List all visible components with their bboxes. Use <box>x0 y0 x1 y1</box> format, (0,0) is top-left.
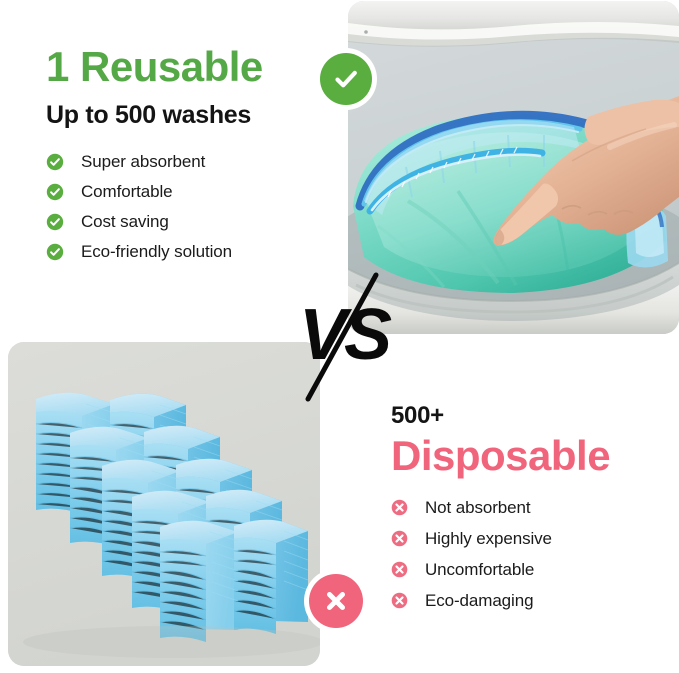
check-circle-icon <box>46 153 64 171</box>
list-item: Highly expensive <box>391 523 676 554</box>
feature-label: Cost saving <box>81 212 169 232</box>
panel-reusable-text: 1 Reusable Up to 500 washes Super absorb… <box>46 46 346 267</box>
x-circle-icon <box>391 561 408 578</box>
subheading-reusable-washes: Up to 500 washes <box>46 101 346 130</box>
drawback-label: Uncomfortable <box>425 560 534 580</box>
list-item: Uncomfortable <box>391 554 676 585</box>
feature-label: Eco-friendly solution <box>81 242 232 262</box>
drawback-label: Not absorbent <box>425 498 531 518</box>
comparison-infographic: VS 1 Reusable Up to 500 washes Super abs… <box>0 0 679 673</box>
list-item: Super absorbent <box>46 147 346 177</box>
check-circle-icon <box>320 53 372 105</box>
list-item: Comfortable <box>46 177 346 207</box>
check-circle-icon <box>46 183 64 201</box>
drawback-label: Highly expensive <box>425 529 552 549</box>
list-item: Not absorbent <box>391 492 676 523</box>
x-circle-icon <box>391 592 408 609</box>
feature-label: Super absorbent <box>81 152 205 172</box>
drawback-label: Eco-damaging <box>425 591 533 611</box>
list-item: Eco-damaging <box>391 585 676 616</box>
photo-disposable-pad-stacks <box>8 342 320 666</box>
heading-reusable: 1 Reusable <box>46 46 346 88</box>
check-circle-icon <box>46 213 64 231</box>
versus-mark: VS <box>300 281 390 385</box>
photo-reusable-pad-in-washer <box>348 1 679 334</box>
list-item: Cost saving <box>46 207 346 237</box>
status-badge-reusable-check <box>315 48 377 110</box>
list-item: Eco-friendly solution <box>46 237 346 267</box>
x-circle-icon <box>309 574 363 628</box>
count-disposable: 500+ <box>391 404 676 428</box>
status-badge-disposable-cross <box>304 569 368 633</box>
check-circle-icon <box>46 243 64 261</box>
x-circle-icon <box>391 530 408 547</box>
heading-disposable: Disposable <box>391 434 676 478</box>
x-circle-icon <box>391 499 408 516</box>
disposable-drawback-list: Not absorbent Highly expensive <box>391 492 676 616</box>
feature-label: Comfortable <box>81 182 173 202</box>
reusable-feature-list: Super absorbent Comfortable <box>46 147 346 267</box>
panel-disposable-text: 500+ Disposable Not absorbent <box>391 404 676 616</box>
